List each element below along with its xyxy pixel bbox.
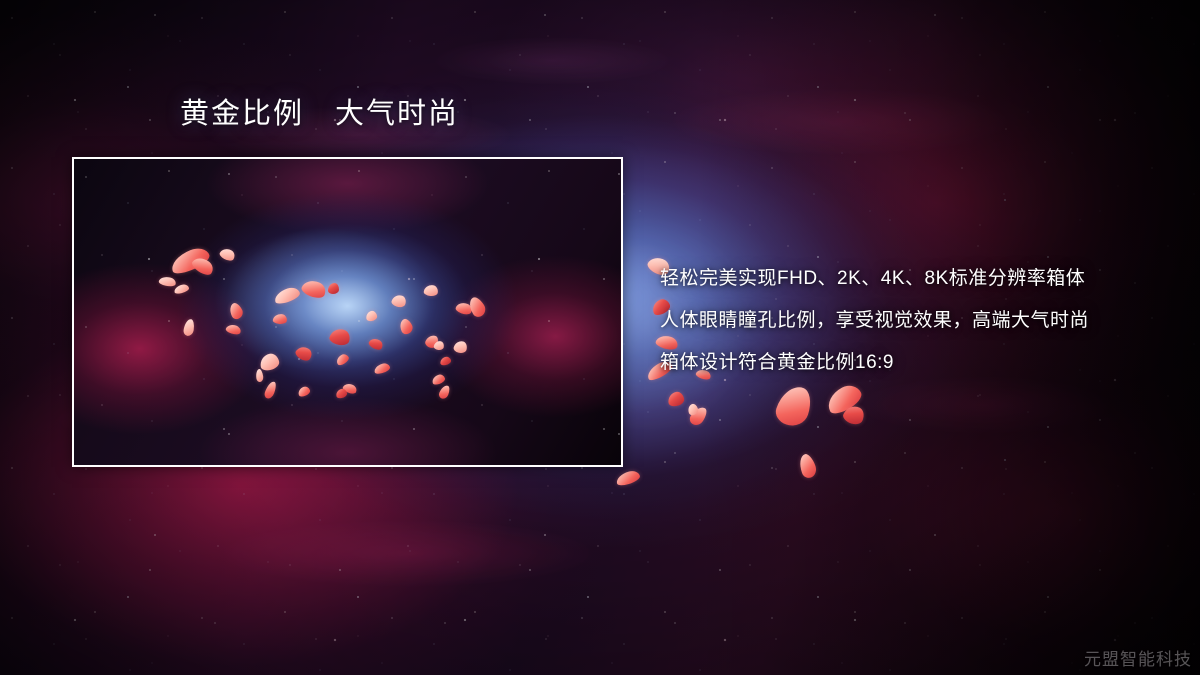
petal-shape — [297, 385, 311, 398]
petal-shape — [273, 285, 302, 305]
petal-shape — [300, 277, 328, 301]
feature-line-2: 人体眼睛瞳孔比例，享受视觉效果，高端大气时尚 — [660, 300, 1180, 342]
petal-shape — [158, 275, 176, 287]
petal-shape — [367, 336, 384, 352]
petal-shape — [263, 380, 278, 400]
petal-shape — [841, 403, 867, 428]
petal-shape — [294, 344, 315, 364]
petal-shape — [328, 283, 339, 294]
petal-shape — [365, 310, 378, 322]
feature-text-block: 轻松完美实现FHD、2K、4K、8K标准分辨率箱体 人体眼睛瞳孔比例，享受视觉效… — [660, 258, 1180, 384]
petal-shape — [335, 352, 351, 366]
petal-shape — [373, 362, 391, 375]
petal-shape — [796, 452, 818, 480]
petal-shape — [255, 369, 264, 383]
petal-shape — [431, 373, 446, 386]
feature-line-1: 轻松完美实现FHD、2K、4K、8K标准分辨率箱体 — [660, 258, 1180, 300]
petal-shape — [453, 340, 469, 355]
petal-shape — [667, 391, 685, 408]
petal-shape — [823, 381, 865, 417]
petal-shape — [259, 352, 281, 372]
petal-shape — [773, 382, 816, 430]
brand-watermark: 元盟智能科技 — [1084, 645, 1192, 670]
page-title: 黄金比例 大气时尚 — [180, 100, 459, 129]
petal-shape — [225, 323, 242, 336]
petal-shape — [390, 293, 407, 309]
petal-shape — [335, 388, 348, 399]
petal-shape — [397, 317, 414, 336]
petal-shape — [688, 404, 710, 428]
petal-shape — [227, 301, 245, 321]
petal-shape — [615, 469, 641, 487]
slide-canvas: 黄金比例 大气时尚 轻松完美实现FHD、2K、4K、8K标准分辨率箱体 人体眼睛… — [0, 0, 1200, 675]
petal-shape — [466, 295, 488, 319]
display-image-frame[interactable] — [72, 157, 623, 467]
petal-shape — [328, 327, 352, 348]
petal-shape — [183, 318, 195, 336]
display-image-petals — [74, 159, 621, 465]
petal-shape — [423, 284, 438, 297]
petal-shape — [273, 313, 288, 324]
petal-shape — [218, 246, 236, 263]
feature-line-3: 箱体设计符合黄金比例16:9 — [660, 342, 1180, 384]
petal-shape — [439, 356, 452, 366]
petal-shape — [438, 384, 452, 400]
petal-shape — [687, 403, 700, 417]
petal-shape — [433, 340, 444, 351]
petal-shape — [173, 283, 189, 294]
